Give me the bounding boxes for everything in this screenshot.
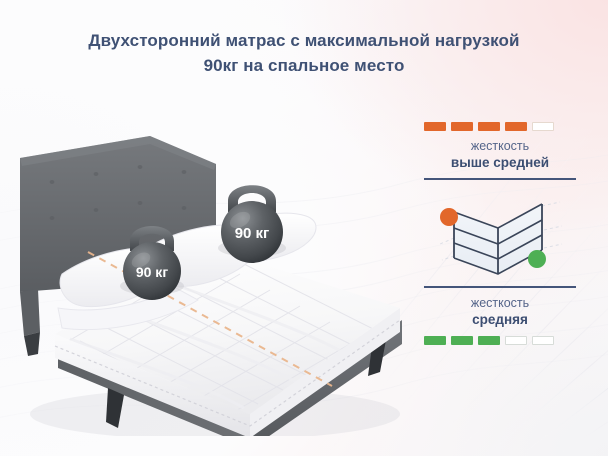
firmness-top-segment-2 <box>451 122 473 131</box>
firmness-bottom-segment-2 <box>451 336 473 345</box>
firmness-panel: жесткость выше средней <box>424 122 576 345</box>
firmness-bottom-divider <box>424 286 576 288</box>
firmness-bottom-label: жесткость средняя <box>424 296 576 328</box>
promo-banner: Двухсторонний матрас с максимальной нагр… <box>0 0 608 456</box>
firmness-bottom-label-strong: средняя <box>424 311 576 328</box>
firmness-bottom-block: жесткость средняя <box>424 286 576 345</box>
promo-title: Двухсторонний матрас с максимальной нагр… <box>0 28 608 78</box>
firmness-bottom-segments <box>424 336 576 345</box>
firmness-bottom-segment-5 <box>532 336 554 345</box>
firmness-top-segments <box>424 122 576 131</box>
firmness-top-segment-4 <box>505 122 527 131</box>
promo-title-line-1: Двухсторонний матрас с максимальной нагр… <box>88 31 519 50</box>
spring-block-diagram <box>424 186 576 282</box>
kettlebell-right-label: 90 кг <box>235 225 270 242</box>
firmness-top-divider <box>424 178 576 180</box>
firmness-top-block: жесткость выше средней <box>424 122 576 180</box>
firmness-marker-green <box>528 250 546 268</box>
kettlebell-left-label: 90 кг <box>136 264 168 280</box>
firmness-bottom-segment-1 <box>424 336 446 345</box>
firmness-top-segment-3 <box>478 122 500 131</box>
firmness-bottom-segment-4 <box>505 336 527 345</box>
firmness-top-label-soft: жесткость <box>424 139 576 154</box>
firmness-bottom-label-soft: жесткость <box>424 296 576 311</box>
promo-title-line-2: 90кг на спальное место <box>0 53 608 78</box>
kettlebell-right: 90 кг <box>218 185 286 263</box>
firmness-top-segment-5 <box>532 122 554 131</box>
firmness-top-label: жесткость выше средней <box>424 139 576 171</box>
firmness-bottom-segment-3 <box>478 336 500 345</box>
firmness-top-segment-1 <box>424 122 446 131</box>
bed-illustration: 90 кг 90 кг <box>0 96 420 436</box>
firmness-marker-orange <box>440 208 458 226</box>
firmness-top-label-strong: выше средней <box>424 154 576 171</box>
